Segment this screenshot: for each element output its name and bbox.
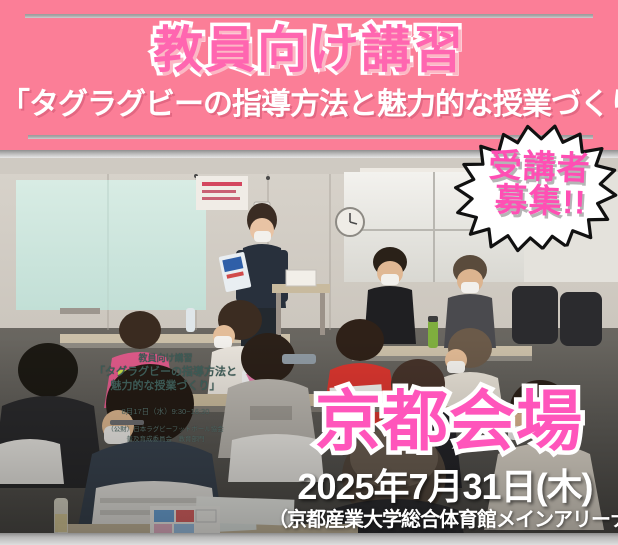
slide-line-4: 8月17日（水）9:30~16:30 (58, 406, 273, 417)
slide-line-6: 普及育成委員会 教育部門 (58, 433, 273, 443)
page-subtitle: 「タグラグビーの指導方法と魅力的な授業づくり」 (0, 88, 618, 122)
starburst-text-group: 受講者 募集!! (450, 119, 618, 253)
venue-name: 京都会場 (280, 386, 618, 456)
venue-place: （京都産業大学総合体育館メインアリーナ） (268, 508, 618, 532)
slide-line-5: （公財）日本ラグビーフットボール協会 (58, 423, 273, 433)
footer-band (0, 533, 618, 545)
badge-line-1: 受講者 (456, 147, 618, 187)
recruitment-starburst-badge: 受講者 募集!! (445, 112, 618, 259)
poster-root: 教員向け講習 「タグラグビーの指導方法と魅力的な授業づくり」 (0, 0, 618, 545)
header-rule-top (25, 14, 593, 18)
page-title: 教員向け講習 (0, 22, 618, 78)
badge-line-2: 募集!! (457, 181, 618, 221)
slide-line-3: 魅力的な授業づくり」 (58, 377, 273, 393)
venue-date: 2025年7月31日(木) (272, 467, 618, 507)
